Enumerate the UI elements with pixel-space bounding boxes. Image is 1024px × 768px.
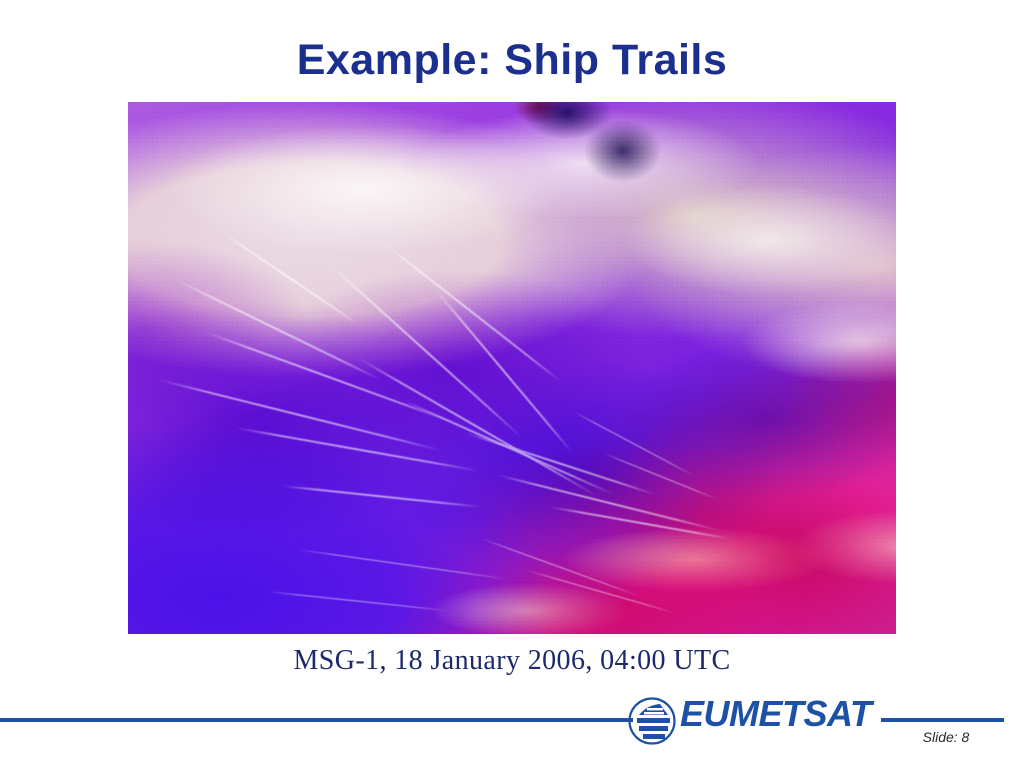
image-noise-texture (128, 102, 896, 634)
eumetsat-wordmark: EUMETSAT (680, 696, 871, 732)
footer-rule-left (0, 718, 633, 722)
slide-number: Slide: 8 (886, 729, 1006, 745)
msg-1-false-colour-satellite-image (128, 102, 896, 634)
footer-rule-right (881, 718, 1004, 722)
satellite-image-figure (128, 102, 896, 634)
figure-caption: MSG-1, 18 January 2006, 04:00 UTC (0, 645, 1024, 677)
eumetsat-globe-emblem (627, 695, 677, 747)
page-title: Example: Ship Trails (0, 38, 1024, 83)
eumetsat-logo: EUMETSAT (627, 694, 879, 748)
